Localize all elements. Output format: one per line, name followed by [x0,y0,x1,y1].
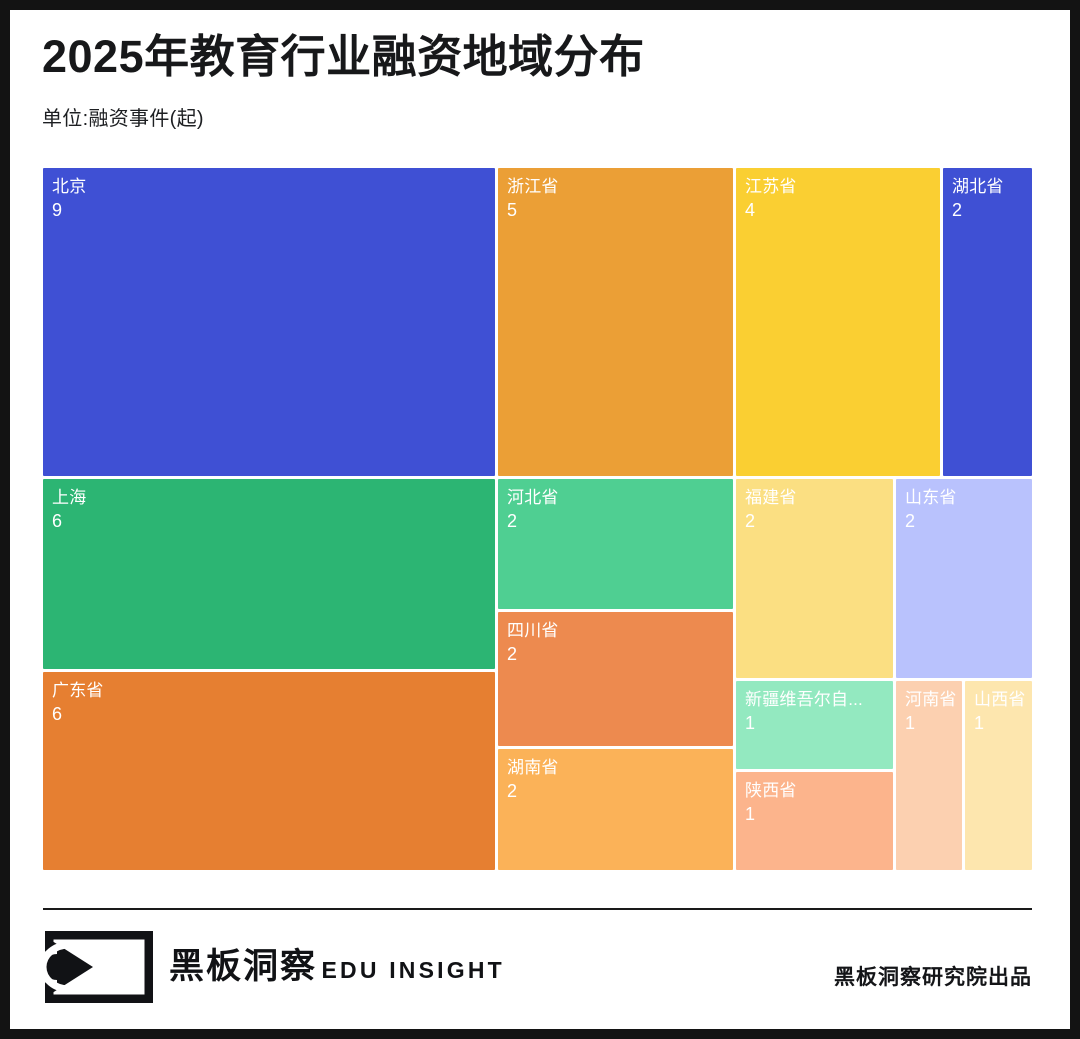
chart-footer: 黑板洞察 EDU INSIGHT 黑板洞察研究院出品 [43,925,1032,1011]
treemap-cell-value: 2 [952,198,962,222]
treemap-cell-label: 上海 [52,485,86,510]
treemap-cell-value: 2 [905,509,915,533]
treemap-cell[interactable]: 浙江省5 [498,168,733,476]
treemap-cell[interactable]: 山东省2 [896,479,1032,678]
treemap-cell-label: 山东省 [905,485,957,510]
treemap-cell-value: 2 [745,509,755,533]
treemap-cell-label: 四川省 [507,618,559,643]
treemap-cell-value: 2 [507,642,517,666]
brand-name-en: EDU INSIGHT [321,957,504,983]
chart-header: 2025年教育行业融资地域分布 单位:融资事件(起) [42,32,1032,131]
treemap-cell[interactable]: 陕西省1 [736,772,893,870]
treemap-cell-value: 5 [507,198,517,222]
treemap-cell-label: 河北省 [507,485,559,510]
treemap-cell-value: 9 [52,198,62,222]
treemap-cell-label: 新疆维吾尔自... [745,687,863,712]
treemap-cell[interactable]: 河北省2 [498,479,733,609]
eye-insight-logo-icon [45,931,153,1003]
treemap-cell[interactable]: 湖北省2 [943,168,1032,476]
treemap-cell[interactable]: 北京9 [43,168,495,476]
treemap-cell[interactable]: 湖南省2 [498,749,733,870]
treemap-cell-label: 福建省 [745,485,797,510]
chart-subtitle: 单位:融资事件(起) [42,102,1032,131]
treemap-cell-label: 陕西省 [745,778,797,803]
treemap-cell-value: 2 [507,779,517,803]
treemap-cell-value: 1 [905,711,915,735]
treemap-cell[interactable]: 四川省2 [498,612,733,746]
treemap-cell-label: 江苏省 [745,174,797,199]
footer-credit: 黑板洞察研究院出品 [834,961,1032,991]
brand-name-cn: 黑板洞察 [169,947,317,986]
brand-text: 黑板洞察 EDU INSIGHT [169,949,505,986]
treemap-cell-label: 北京 [52,174,86,199]
treemap-chart: 北京9上海6广东省6浙江省5江苏省4湖北省2河北省2四川省2湖南省2福建省2新疆… [43,168,1032,870]
treemap-cell-value: 1 [745,711,755,735]
treemap-cell-label: 河南省 [905,687,957,712]
treemap-cell[interactable]: 上海6 [43,479,495,669]
treemap-cell-label: 浙江省 [507,174,559,199]
treemap-cell-value: 1 [974,711,984,735]
treemap-cell-label: 山西省 [974,687,1026,712]
treemap-cell[interactable]: 江苏省4 [736,168,940,476]
treemap-cell[interactable]: 广东省6 [43,672,495,870]
page-title: 2025年教育行业融资地域分布 [42,32,1032,82]
treemap-cell[interactable]: 河南省1 [896,681,962,870]
treemap-cell[interactable]: 福建省2 [736,479,893,678]
treemap-cell-label: 广东省 [52,678,104,703]
treemap-cell-value: 1 [745,802,755,826]
treemap-cell[interactable]: 新疆维吾尔自...1 [736,681,893,769]
treemap-cell-label: 湖南省 [507,755,559,780]
footer-divider [43,908,1032,910]
treemap-cell-value: 6 [52,702,62,726]
chart-card: 2025年教育行业融资地域分布 单位:融资事件(起) 北京9上海6广东省6浙江省… [10,10,1070,1029]
treemap-cell-label: 湖北省 [952,174,1004,199]
treemap-cell[interactable]: 山西省1 [965,681,1032,870]
brand-lockup: 黑板洞察 EDU INSIGHT [45,931,505,1003]
treemap-cell-value: 2 [507,509,517,533]
treemap-cell-value: 4 [745,198,755,222]
treemap-cell-value: 6 [52,509,62,533]
